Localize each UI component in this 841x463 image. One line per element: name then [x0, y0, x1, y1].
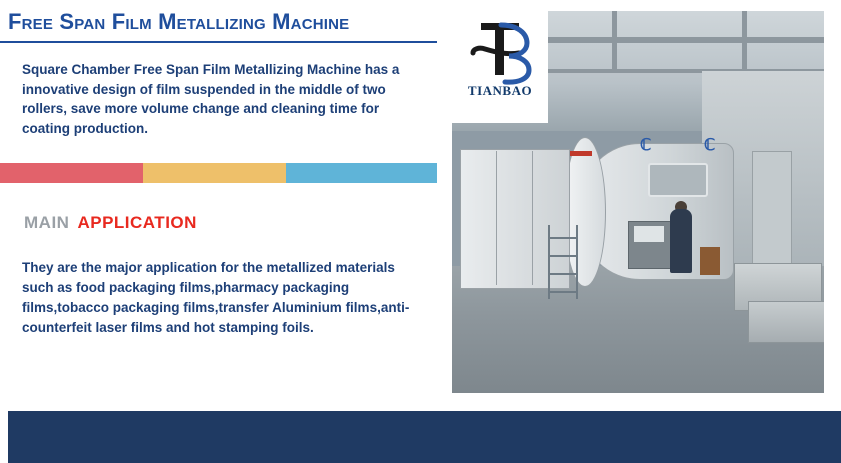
photo-roof-column	[612, 11, 617, 71]
footer-gap	[0, 404, 841, 409]
photo-wall-door	[752, 151, 792, 265]
photo-cabinet-seam	[496, 151, 497, 285]
red-bar	[0, 163, 143, 183]
photo-ladder	[548, 225, 578, 299]
section-heading-primary: MAIN	[24, 213, 69, 232]
photo-cabinet-seam	[532, 151, 533, 285]
section-heading-accent: APPLICATION	[77, 213, 196, 232]
title-divider	[0, 41, 437, 43]
left-content-column: Free Span Film Metallizing Machine Squar…	[0, 0, 448, 400]
slide-page: Free Span Film Metallizing Machine Squar…	[0, 0, 841, 463]
photo-operator	[670, 209, 692, 273]
photo-chamber-window	[648, 163, 708, 197]
intro-paragraph: Square Chamber Free Span Film Metallizin…	[22, 60, 422, 138]
color-bar-group	[0, 163, 437, 183]
footer-bar	[8, 411, 841, 463]
photo-chair	[700, 247, 720, 275]
section-heading: MAINAPPLICATION	[24, 213, 197, 233]
gold-bar	[143, 163, 286, 183]
company-logo: TIANBAO	[452, 11, 548, 123]
photo-roof-column	[742, 11, 747, 71]
page-title: Free Span Film Metallizing Machine	[8, 10, 438, 34]
application-paragraph: They are the major application for the m…	[22, 258, 417, 337]
photo-red-marker	[570, 151, 592, 156]
photo-chamber-logo: ℂ	[704, 135, 715, 155]
photo-console-screen	[634, 226, 664, 242]
tianbao-logo-icon	[461, 13, 539, 89]
photo-chamber-logo: ℂ	[640, 135, 651, 155]
photo-equipment-crate	[748, 301, 824, 343]
blue-bar	[286, 163, 437, 183]
